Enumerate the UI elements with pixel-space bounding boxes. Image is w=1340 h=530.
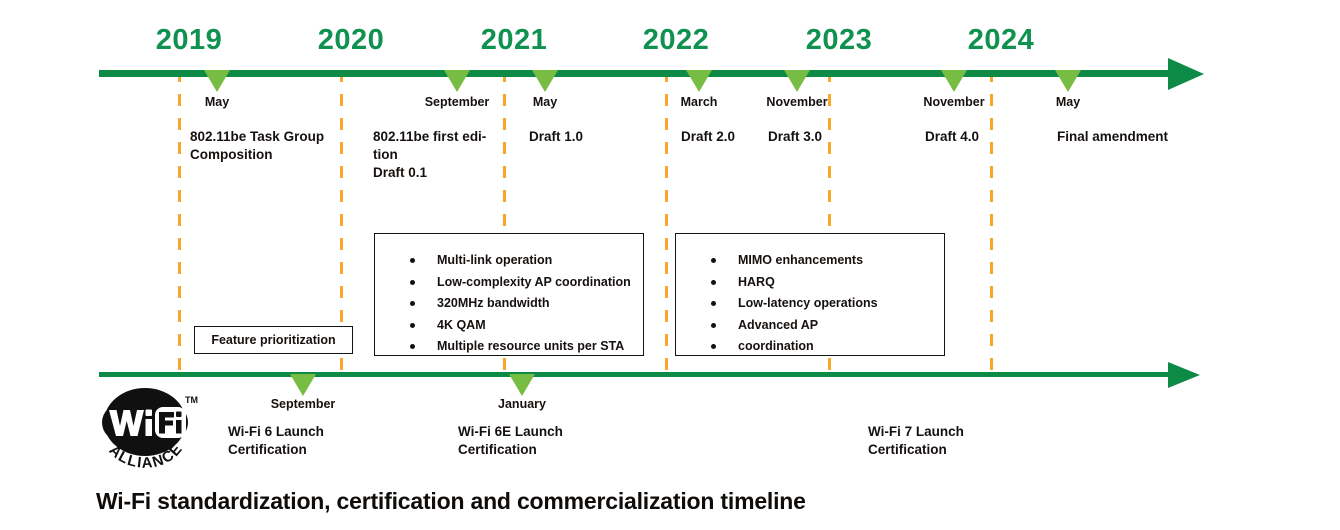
text-line: Draft 4.0 xyxy=(925,128,979,146)
certification-month-0: September xyxy=(271,397,336,411)
standardization-marker-5 xyxy=(941,70,967,92)
standardization-month-6: May xyxy=(1056,95,1080,109)
text-line: Certification xyxy=(868,441,964,459)
feature-list-item: coordination xyxy=(676,336,944,358)
standardization-marker-6 xyxy=(1055,70,1081,92)
text-line: Draft 1.0 xyxy=(529,128,583,146)
year-label-2020: 2020 xyxy=(318,24,385,57)
wifi7-features-box-1: Multi-link operationLow-complexity AP co… xyxy=(374,233,644,356)
standardization-description-1: 802.11be first edi-tionDraft 0.1 xyxy=(373,128,486,181)
standardization-description-5: Draft 4.0 xyxy=(925,128,979,146)
standardization-marker-2 xyxy=(532,70,558,92)
text-line: 802.11be Task Group xyxy=(190,128,324,146)
certification-marker-0 xyxy=(290,374,316,396)
feature-prioritization-box: Feature prioritization xyxy=(194,326,353,354)
feature-list-item: Low-latency operations xyxy=(676,293,944,315)
standardization-axis-arrow-icon xyxy=(1168,58,1204,90)
standardization-marker-4 xyxy=(784,70,810,92)
text-line: Draft 0.1 xyxy=(373,164,486,182)
standardization-month-5: November xyxy=(923,95,984,109)
text-line: Certification xyxy=(228,441,324,459)
year-label-2021: 2021 xyxy=(481,24,548,57)
text-line: Draft 2.0 xyxy=(681,128,735,146)
year-gridline-2024 xyxy=(990,70,993,375)
feature-list-item: 4K QAM xyxy=(375,315,643,337)
wifi-alliance-logo: TM ALLIANCE xyxy=(96,382,200,476)
standardization-description-3: Draft 2.0 xyxy=(681,128,735,146)
feature-list-item: MIMO enhancements xyxy=(676,250,944,272)
standardization-month-3: March xyxy=(681,95,718,109)
year-label-2024: 2024 xyxy=(968,24,1035,57)
feature-list-item: Low-complexity AP coordination xyxy=(375,272,643,294)
certification-description-0: Wi-Fi 6 LaunchCertification xyxy=(228,423,324,459)
standardization-description-4: Draft 3.0 xyxy=(768,128,822,146)
certification-axis-arrow-icon xyxy=(1168,362,1200,388)
text-line: Composition xyxy=(190,146,324,164)
text-line: Certification xyxy=(458,441,563,459)
standardization-month-2: May xyxy=(533,95,557,109)
feature-list-item: Multi-link operation xyxy=(375,250,643,272)
feature-list-item: Advanced AP xyxy=(676,315,944,337)
standardization-marker-1 xyxy=(444,70,470,92)
timeline-diagram: 201920202021202220232024 May802.11be Tas… xyxy=(0,0,1340,530)
year-label-2022: 2022 xyxy=(643,24,710,57)
standardization-description-0: 802.11be Task GroupComposition xyxy=(190,128,324,164)
feature-prioritization-label: Feature prioritization xyxy=(211,333,335,347)
wifi7-features-box-2: MIMO enhancementsHARQLow-latency operati… xyxy=(675,233,945,356)
text-line: Wi-Fi 6 Launch xyxy=(228,423,324,441)
text-line: Wi-Fi 6E Launch xyxy=(458,423,563,441)
standardization-month-4: November xyxy=(766,95,827,109)
standardization-description-6: Final amendment xyxy=(1057,128,1168,146)
certification-description-2: Wi-Fi 7 LaunchCertification xyxy=(868,423,964,459)
standardization-marker-0 xyxy=(204,70,230,92)
logo-trademark-icon: TM xyxy=(185,395,198,405)
text-line: tion xyxy=(373,146,486,164)
text-line: 802.11be first edi- xyxy=(373,128,486,146)
feature-list-item: HARQ xyxy=(676,272,944,294)
year-label-2019: 2019 xyxy=(156,24,223,57)
text-line: Final amendment xyxy=(1057,128,1168,146)
year-gridline-2019 xyxy=(178,70,181,375)
feature-list-item: Multiple resource units per STA xyxy=(375,336,643,358)
year-label-2023: 2023 xyxy=(806,24,873,57)
feature-list: Multi-link operationLow-complexity AP co… xyxy=(375,234,643,358)
certification-marker-1 xyxy=(509,374,535,396)
text-line: Wi-Fi 7 Launch xyxy=(868,423,964,441)
feature-list-item: 320MHz bandwidth xyxy=(375,293,643,315)
feature-list: MIMO enhancementsHARQLow-latency operati… xyxy=(676,234,944,358)
certification-axis-line xyxy=(99,372,1174,377)
page-title: Wi-Fi standardization, certification and… xyxy=(96,488,806,515)
standardization-month-1: September xyxy=(425,95,490,109)
year-gridline-2022 xyxy=(665,70,668,375)
certification-month-1: January xyxy=(498,397,546,411)
standardization-axis-line xyxy=(99,70,1174,77)
standardization-month-0: May xyxy=(205,95,229,109)
standardization-marker-3 xyxy=(686,70,712,92)
standardization-description-2: Draft 1.0 xyxy=(529,128,583,146)
text-line: Draft 3.0 xyxy=(768,128,822,146)
certification-description-1: Wi-Fi 6E LaunchCertification xyxy=(458,423,563,459)
